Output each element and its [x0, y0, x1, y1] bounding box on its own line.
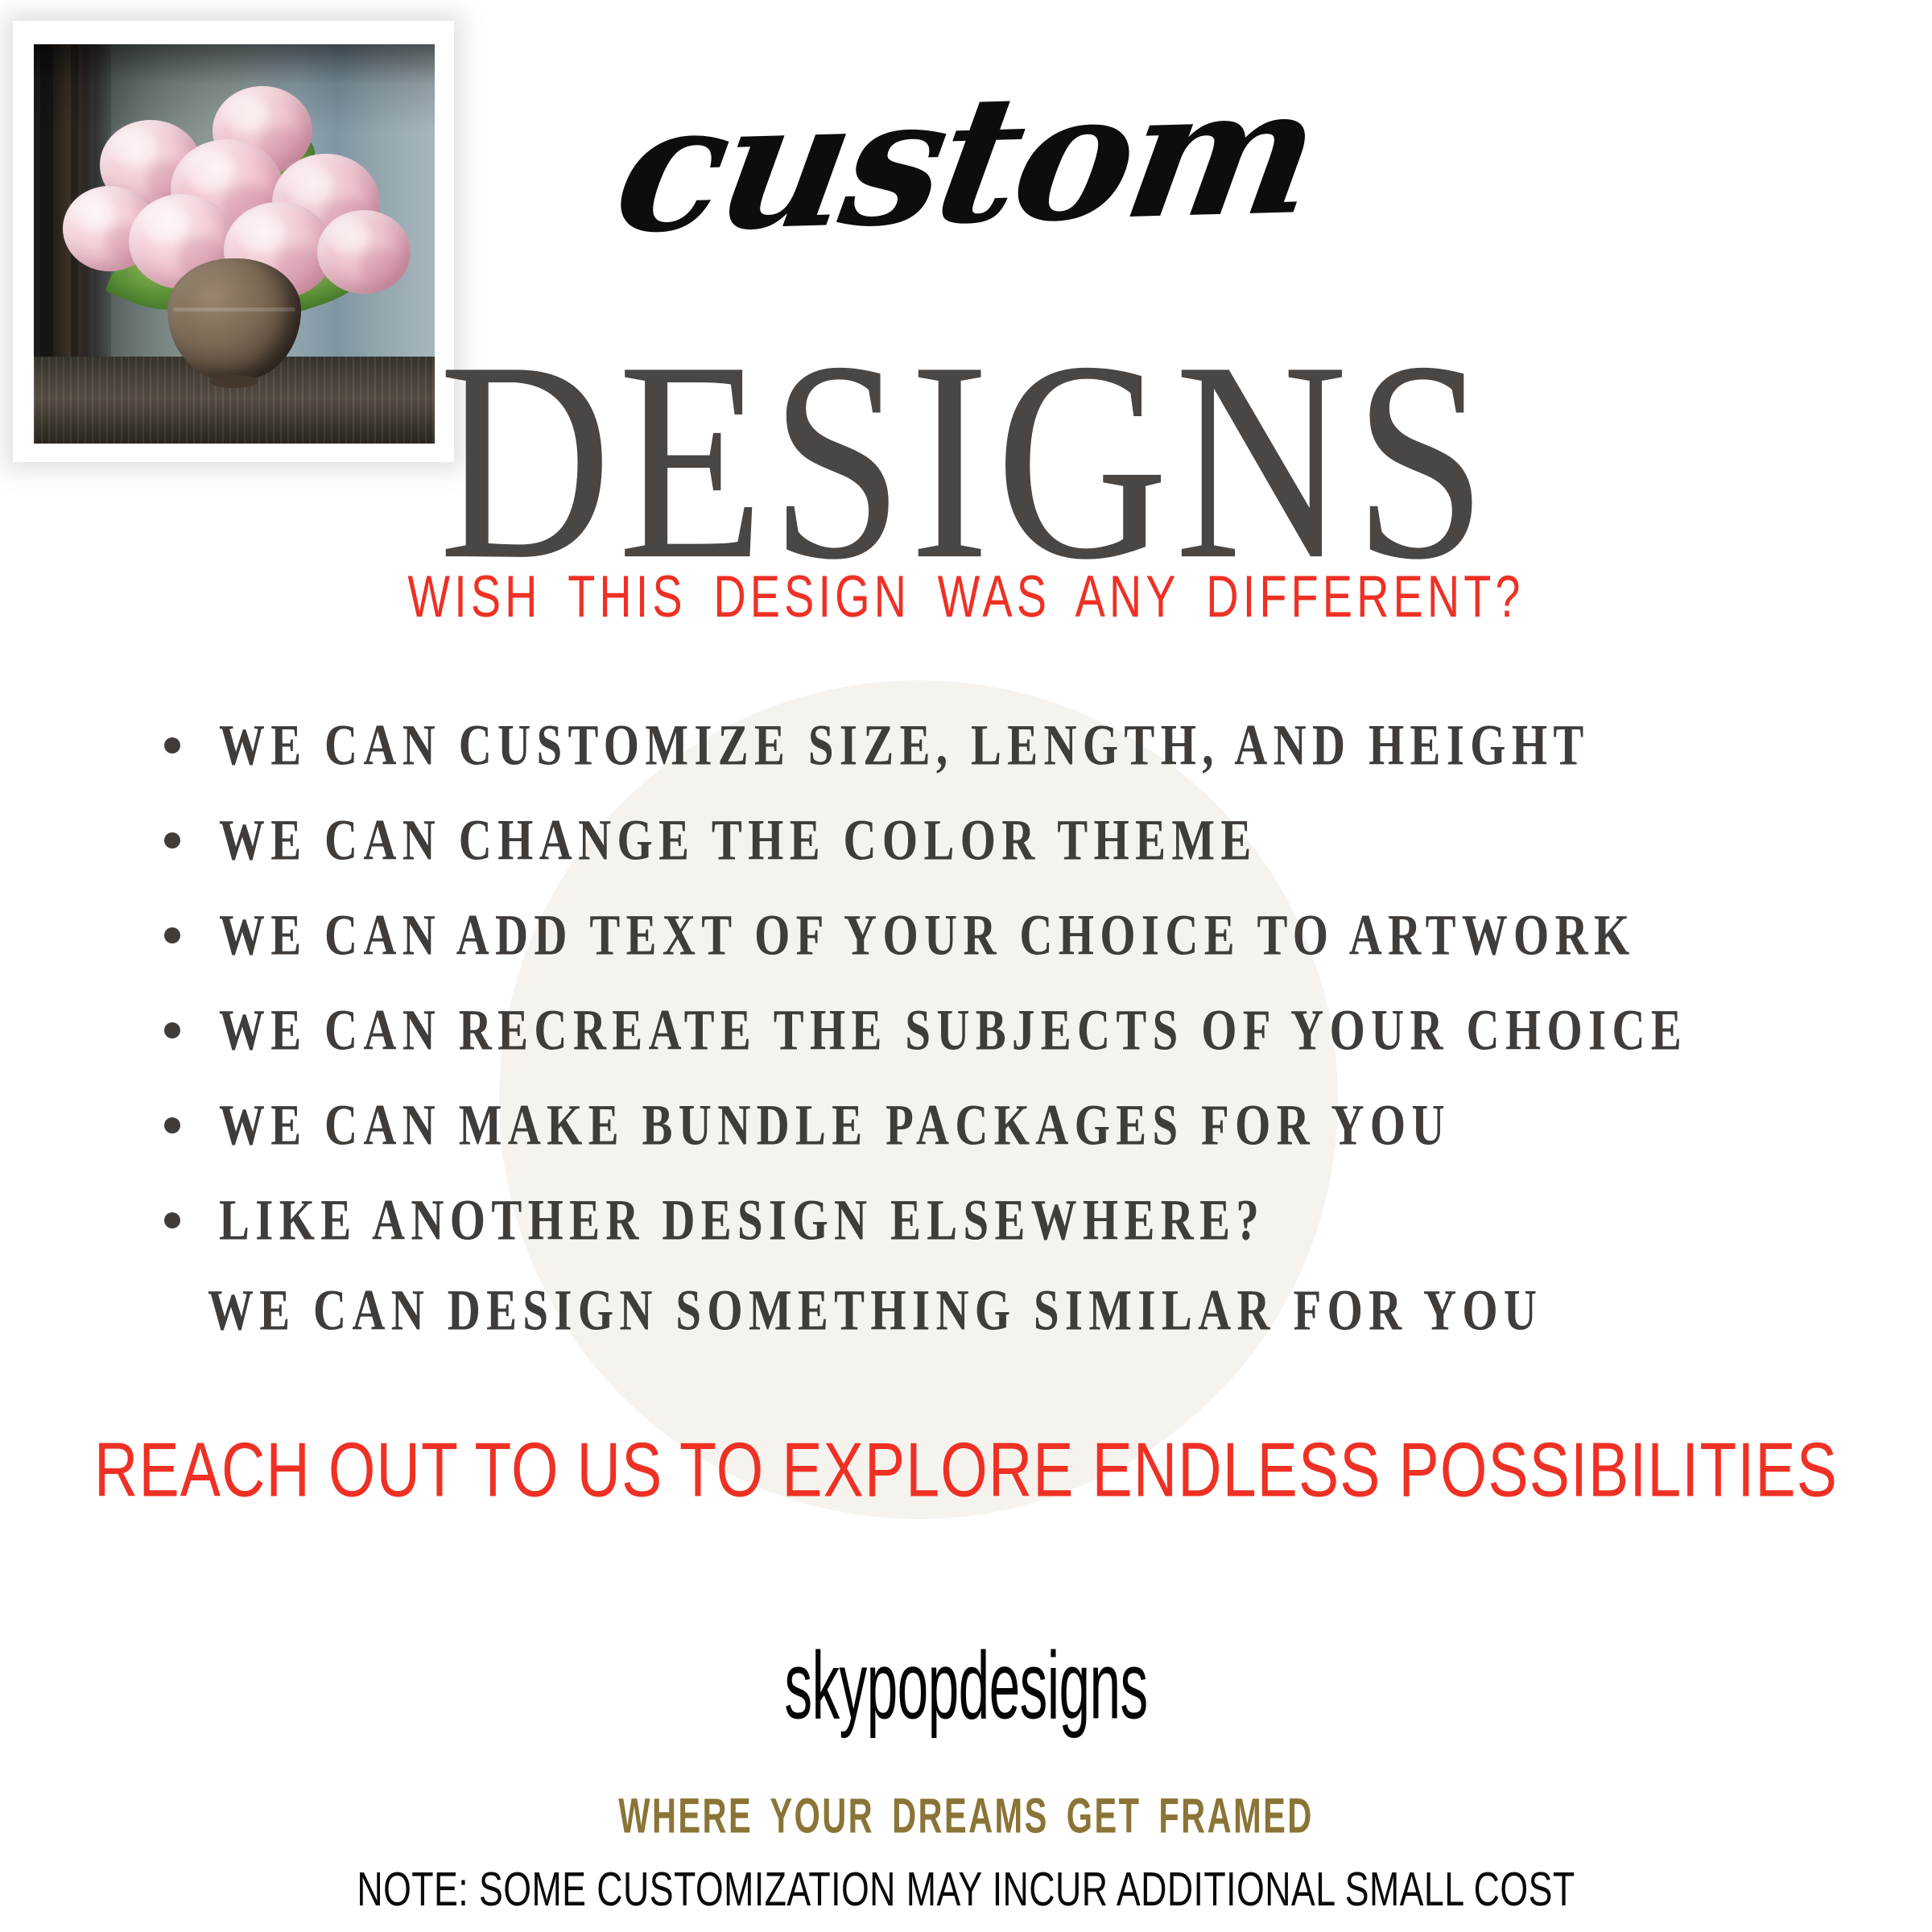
- footnote-text: NOTE: SOME CUSTOMIZATION MAY INCUR ADDIT…: [135, 1866, 1797, 1913]
- list-item-label: WE CAN MAKE BUNDLE PACKAGES FOR YOU: [219, 1088, 1451, 1154]
- headline-designs: DESIGNS: [10, 318, 1922, 603]
- bullet-dot-icon: [164, 1022, 180, 1038]
- brand-logo-text: skypopdesigns: [367, 1638, 1565, 1734]
- custom-designs-poster: custom DESIGNS WISH THIS DESIGN WAS ANY …: [0, 0, 1932, 1932]
- list-item-label: WE CAN CUSTOMIZE SIZE, LENGTH, AND HEIGH…: [219, 708, 1590, 774]
- benefit-continuation-row: WE CAN DESIGN SOMETHING SIMILAR FOR YOU: [0, 1282, 1932, 1328]
- benefit-continuation-label: WE CAN DESIGN SOMETHING SIMILAR FOR YOU: [208, 1282, 1542, 1340]
- subtitle-question: WISH THIS DESIGN WAS ANY DIFFERENT?: [68, 568, 1864, 626]
- benefit-list: WE CAN CUSTOMIZE SIZE, LENGTH, AND HEIGH…: [0, 708, 1932, 1278]
- list-item: WE CAN CHANGE THE COLOR THEME: [0, 803, 1932, 898]
- list-item: WE CAN RECREATE THE SUBJECTS OF YOUR CHO…: [0, 993, 1932, 1088]
- list-item-label: WE CAN CHANGE THE COLOR THEME: [219, 803, 1257, 869]
- list-item: WE CAN MAKE BUNDLE PACKAGES FOR YOU: [0, 1088, 1932, 1183]
- bullet-dot-icon: [164, 1117, 180, 1133]
- bullet-dot-icon: [164, 1212, 180, 1228]
- list-item-label: LIKE ANOTHER DESIGN ELSEWHERE?: [219, 1183, 1265, 1249]
- list-item-label: WE CAN ADD TEXT OF YOUR CHOICE TO ARTWOR…: [219, 898, 1636, 964]
- cta-text: REACH OUT TO US TO EXPLORE ENDLESS POSSI…: [58, 1431, 1874, 1509]
- list-item: WE CAN ADD TEXT OF YOUR CHOICE TO ARTWOR…: [0, 898, 1932, 993]
- list-item: LIKE ANOTHER DESIGN ELSEWHERE?: [0, 1183, 1932, 1278]
- bullet-dot-icon: [164, 832, 180, 848]
- bullet-dot-icon: [164, 737, 180, 753]
- list-item-label: WE CAN RECREATE THE SUBJECTS OF YOUR CHO…: [219, 993, 1687, 1059]
- brand-tagline: WHERE YOUR DREAMS GET FRAMED: [193, 1792, 1739, 1841]
- list-item: WE CAN CUSTOMIZE SIZE, LENGTH, AND HEIGH…: [0, 708, 1932, 803]
- bullet-dot-icon: [164, 927, 180, 943]
